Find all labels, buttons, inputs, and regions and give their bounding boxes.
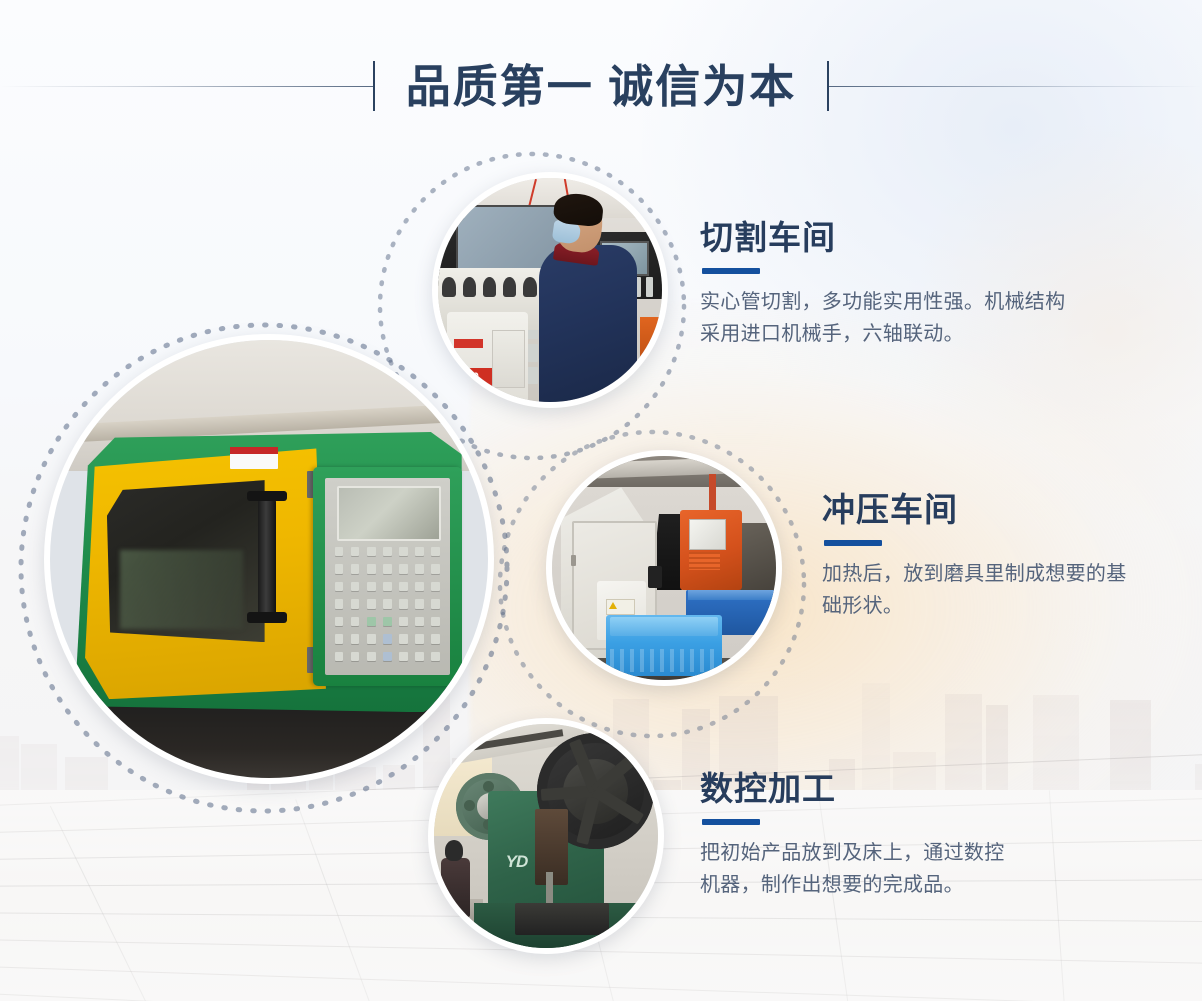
section-body-line: 加热后，放到磨具里制成想要的基 xyxy=(822,563,1127,585)
section-body-cnc: 把初始产品放到及床上，通过数控 机器，制作出想要的完成品。 xyxy=(700,838,1005,901)
hero-photo-circle xyxy=(44,334,494,784)
poster-canvas: 品质第一 诚信为本 xyxy=(0,0,1202,1001)
section-body-line: 础形状。 xyxy=(822,595,903,617)
section-body-stamping: 加热后，放到磨具里制成想要的基 础形状。 xyxy=(822,559,1127,622)
section-accent-rule-cutting xyxy=(702,268,760,274)
section-heading-cnc: 数控加工 xyxy=(700,770,1005,808)
stamping-press-photo xyxy=(552,456,776,680)
section-photo-cutting: 40 xyxy=(432,172,668,408)
punch-press-photo: YD xyxy=(434,724,658,948)
page-header: 品质第一 诚信为本 xyxy=(0,52,1202,122)
section-body-cutting: 实心管切割，多功能实用性强。机械结构 采用进口机械手，六轴联动。 xyxy=(700,287,1065,350)
section-text-cutting: 切割车间 实心管切割，多功能实用性强。机械结构 采用进口机械手，六轴联动。 xyxy=(700,219,1065,350)
section-body-line: 采用进口机械手，六轴联动。 xyxy=(700,323,964,345)
section-accent-rule-cnc xyxy=(702,819,760,825)
section-accent-rule-stamping xyxy=(824,540,882,546)
section-heading-cutting: 切割车间 xyxy=(700,219,1065,257)
section-heading-stamping: 冲压车间 xyxy=(822,491,1127,529)
section-photo-cnc: YD xyxy=(428,718,664,954)
injection-molding-machine-photo xyxy=(50,340,488,778)
page-title: 品质第一 诚信为本 xyxy=(0,52,1202,122)
section-text-stamping: 冲压车间 加热后，放到磨具里制成想要的基 础形状。 xyxy=(822,491,1127,622)
section-body-line: 实心管切割，多功能实用性强。机械结构 xyxy=(700,291,1065,313)
section-body-line: 机器，制作出想要的完成品。 xyxy=(700,874,964,896)
section-body-line: 把初始产品放到及床上，通过数控 xyxy=(700,842,1005,864)
cnc-lathe-worker-photo: 40 xyxy=(438,178,662,402)
section-photo-stamping xyxy=(546,450,782,686)
section-text-cnc: 数控加工 把初始产品放到及床上，通过数控 机器，制作出想要的完成品。 xyxy=(700,770,1005,901)
